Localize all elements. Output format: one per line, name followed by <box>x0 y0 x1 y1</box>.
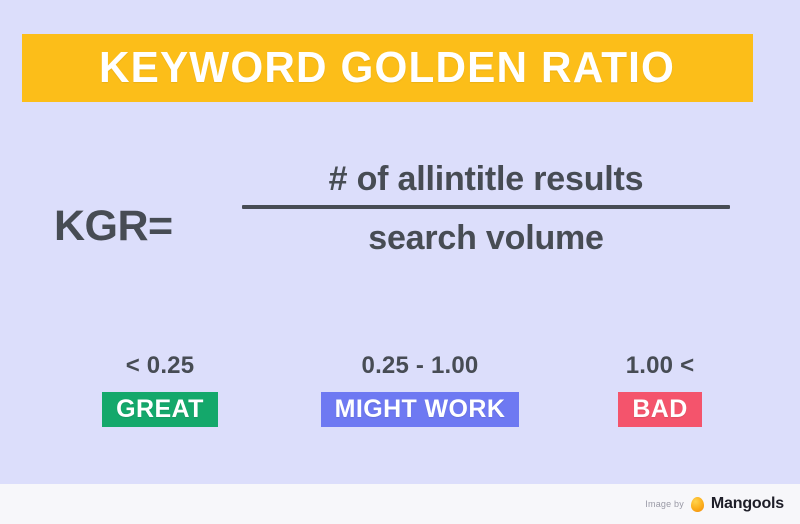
range-value-might-work: 0.25 - 1.00 <box>362 352 479 380</box>
range-item-bad: 1.00 < BAD <box>560 352 760 427</box>
formula-numerator: # of allintitle results <box>228 160 744 205</box>
formula-left-label: KGR= <box>54 202 173 251</box>
status-badge-great: GREAT <box>102 392 218 427</box>
formula-fraction: # of allintitle results search volume <box>228 160 744 258</box>
title-banner: KEYWORD GOLDEN RATIO <box>22 34 753 102</box>
credit-prefix-label: Image by <box>645 499 684 509</box>
footer-bar: Image by Mangools <box>0 484 800 524</box>
attribution-credit: Image by Mangools <box>645 495 784 513</box>
formula-denominator: search volume <box>228 209 744 258</box>
range-item-great: < 0.25 GREAT <box>40 352 280 427</box>
status-badge-bad: BAD <box>618 392 701 427</box>
mango-icon <box>691 497 704 512</box>
range-value-great: < 0.25 <box>126 352 195 380</box>
page-title: KEYWORD GOLDEN RATIO <box>99 46 675 90</box>
range-legend: < 0.25 GREAT 0.25 - 1.00 MIGHT WORK 1.00… <box>40 352 760 427</box>
range-value-bad: 1.00 < <box>626 352 695 380</box>
status-badge-might-work: MIGHT WORK <box>321 392 520 427</box>
range-item-might-work: 0.25 - 1.00 MIGHT WORK <box>295 352 545 427</box>
brand-name-label: Mangools <box>711 495 784 513</box>
kgr-formula: KGR= # of allintitle results search volu… <box>0 160 800 310</box>
infographic-body: KEYWORD GOLDEN RATIO KGR= # of allintitl… <box>0 0 800 484</box>
infographic-canvas: KEYWORD GOLDEN RATIO KGR= # of allintitl… <box>0 0 800 524</box>
